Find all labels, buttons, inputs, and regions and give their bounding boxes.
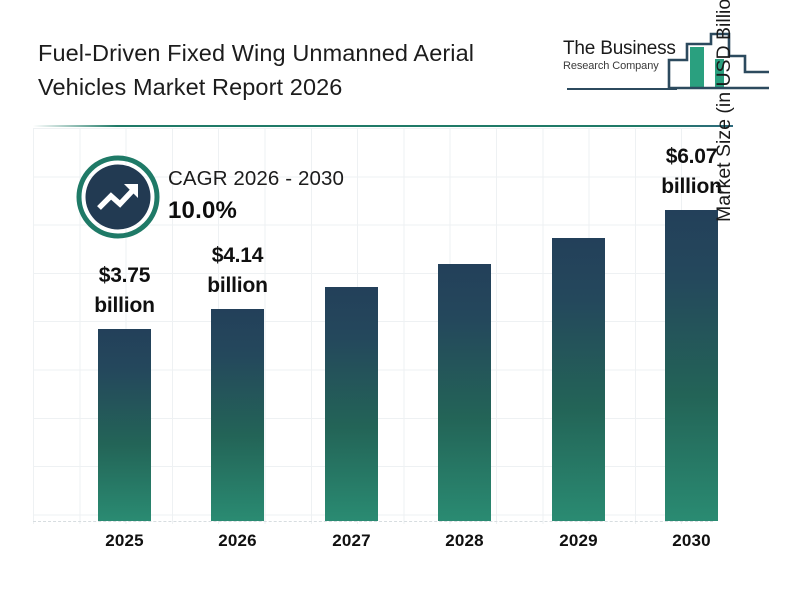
x-axis-tick-2030: 2030 [647,531,737,551]
bar-2027 [325,287,378,521]
bar-value-label-2026: $4.14billion [168,241,308,301]
bar-2026 [211,309,264,521]
x-axis-tick-2025: 2025 [80,531,170,551]
cagr-period-label: CAGR 2026 - 2030 [168,165,344,193]
bar-2030 [665,210,718,521]
cagr-callout: CAGR 2026 - 2030 10.0% [76,155,406,245]
chart-page: Fuel-Driven Fixed Wing Unmanned Aerial V… [0,0,800,600]
bar-value-amount-2030: $6.07 [622,142,762,172]
cagr-text-block: CAGR 2026 - 2030 10.0% [168,165,344,227]
x-axis-tick-2029: 2029 [534,531,624,551]
bar-2029 [552,238,605,521]
x-axis-tick-2028: 2028 [420,531,510,551]
bar-value-amount-2026: $4.14 [168,241,308,271]
bar-value-label-2030: $6.07billion [622,142,762,202]
bar-2028 [438,264,491,521]
cagr-value-label: 10.0% [168,195,344,227]
axis-baseline [33,521,713,523]
bar-value-unit-2026: billion [168,271,308,301]
trending-up-icon [76,155,160,239]
bar-2025 [98,329,151,521]
bar-value-unit-2030: billion [622,172,762,202]
x-axis-tick-2027: 2027 [307,531,397,551]
x-axis-tick-2026: 2026 [193,531,283,551]
